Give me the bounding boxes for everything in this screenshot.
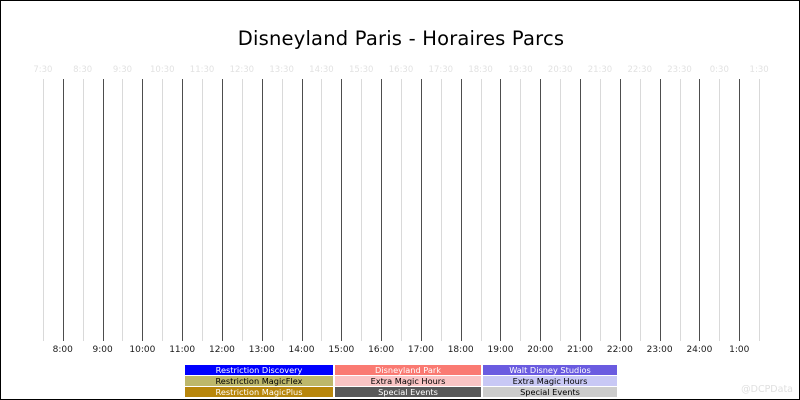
gridline-minor xyxy=(122,79,123,341)
gridline-major xyxy=(262,79,263,341)
gridline-major xyxy=(540,79,541,341)
tick-label-top: 17:30 xyxy=(429,65,454,75)
tick-label-bottom: 16:00 xyxy=(368,345,394,355)
gridline-minor xyxy=(43,79,44,341)
tick-label-bottom: 10:00 xyxy=(129,345,155,355)
legend-item[interactable]: Restriction Discovery xyxy=(185,365,333,375)
tick-label-bottom: 11:00 xyxy=(169,345,195,355)
tick-label-bottom: 12:00 xyxy=(209,345,235,355)
gridline-major xyxy=(500,79,501,341)
tick-label-bottom: 21:00 xyxy=(567,345,593,355)
legend-item[interactable]: Extra Magic Hours xyxy=(483,376,617,386)
gridline-major xyxy=(63,79,64,341)
tick-label-bottom: 19:00 xyxy=(488,345,514,355)
chart-canvas: Disneyland Paris - Horaires Parcs 7:308:… xyxy=(0,0,800,400)
tick-label-top: 1:30 xyxy=(750,65,769,75)
gridline-minor xyxy=(481,79,482,341)
tick-label-top: 15:30 xyxy=(349,65,374,75)
gridline-major xyxy=(222,79,223,341)
plot-area xyxy=(23,79,779,341)
tick-label-bottom: 24:00 xyxy=(686,345,712,355)
tick-label-top: 22:30 xyxy=(627,65,652,75)
tick-label-top: 23:30 xyxy=(667,65,692,75)
gridline-major xyxy=(182,79,183,341)
tick-label-top: 20:30 xyxy=(548,65,573,75)
legend-item[interactable]: Restriction MagicFlex xyxy=(185,376,333,386)
gridline-minor xyxy=(83,79,84,341)
gridline-minor xyxy=(242,79,243,341)
legend-column-walt-disney-studios: Walt Disney StudiosExtra Magic HoursSpec… xyxy=(483,365,617,397)
gridline-minor xyxy=(162,79,163,341)
tick-label-top: 21:30 xyxy=(588,65,613,75)
gridline-minor xyxy=(361,79,362,341)
tick-label-top: 11:30 xyxy=(190,65,215,75)
tick-label-top: 12:30 xyxy=(230,65,255,75)
tick-label-top: 0:30 xyxy=(710,65,729,75)
legend-column-restrictions: Restriction DiscoveryRestriction MagicFl… xyxy=(185,365,333,397)
legend-item[interactable]: Disneyland Park xyxy=(335,365,481,375)
tick-label-bottom: 20:00 xyxy=(527,345,553,355)
legend-item[interactable]: Special Events xyxy=(335,387,481,397)
chart-title: Disneyland Paris - Horaires Parcs xyxy=(1,27,800,50)
tick-label-top: 7:30 xyxy=(33,65,52,75)
gridline-minor xyxy=(520,79,521,341)
gridline-major xyxy=(103,79,104,341)
gridline-major xyxy=(739,79,740,341)
tick-label-top: 19:30 xyxy=(508,65,533,75)
gridline-major xyxy=(421,79,422,341)
gridline-major xyxy=(660,79,661,341)
legend-item[interactable]: Extra Magic Hours xyxy=(335,376,481,386)
tick-label-bottom: 14:00 xyxy=(289,345,315,355)
tick-label-bottom: 22:00 xyxy=(607,345,633,355)
tick-label-top: 14:30 xyxy=(309,65,334,75)
tick-label-top: 18:30 xyxy=(468,65,493,75)
gridline-minor xyxy=(282,79,283,341)
gridline-minor xyxy=(202,79,203,341)
gridline-minor xyxy=(680,79,681,341)
gridline-minor xyxy=(560,79,561,341)
tick-label-bottom: 17:00 xyxy=(408,345,434,355)
tick-label-top: 10:30 xyxy=(150,65,175,75)
legend-item[interactable]: Restriction MagicPlus xyxy=(185,387,333,397)
gridline-major xyxy=(620,79,621,341)
tick-label-top: 13:30 xyxy=(269,65,294,75)
gridline-minor xyxy=(719,79,720,341)
tick-label-bottom: 13:00 xyxy=(249,345,275,355)
tick-label-bottom: 23:00 xyxy=(647,345,673,355)
gridline-minor xyxy=(441,79,442,341)
gridline-major xyxy=(341,79,342,341)
chart-legend: Restriction DiscoveryRestriction MagicFl… xyxy=(1,365,800,397)
gridline-major xyxy=(142,79,143,341)
gridline-major xyxy=(699,79,700,341)
gridline-major xyxy=(302,79,303,341)
gridline-minor xyxy=(640,79,641,341)
gridline-minor xyxy=(600,79,601,341)
tick-label-top: 16:30 xyxy=(389,65,414,75)
gridline-minor xyxy=(401,79,402,341)
legend-item[interactable]: Walt Disney Studios xyxy=(483,365,617,375)
watermark: @DCPData xyxy=(741,384,793,395)
gridline-minor xyxy=(759,79,760,341)
tick-label-top: 8:30 xyxy=(73,65,92,75)
tick-label-top: 9:30 xyxy=(113,65,132,75)
legend-column-disneyland-park: Disneyland ParkExtra Magic HoursSpecial … xyxy=(335,365,481,397)
gridline-major xyxy=(381,79,382,341)
tick-label-bottom: 9:00 xyxy=(92,345,112,355)
tick-label-bottom: 18:00 xyxy=(448,345,474,355)
legend-item[interactable]: Special Events xyxy=(483,387,617,397)
tick-label-bottom: 15:00 xyxy=(328,345,354,355)
tick-label-bottom: 1:00 xyxy=(729,345,749,355)
gridline-minor xyxy=(321,79,322,341)
gridline-major xyxy=(580,79,581,341)
gridline-major xyxy=(461,79,462,341)
tick-label-bottom: 8:00 xyxy=(53,345,73,355)
